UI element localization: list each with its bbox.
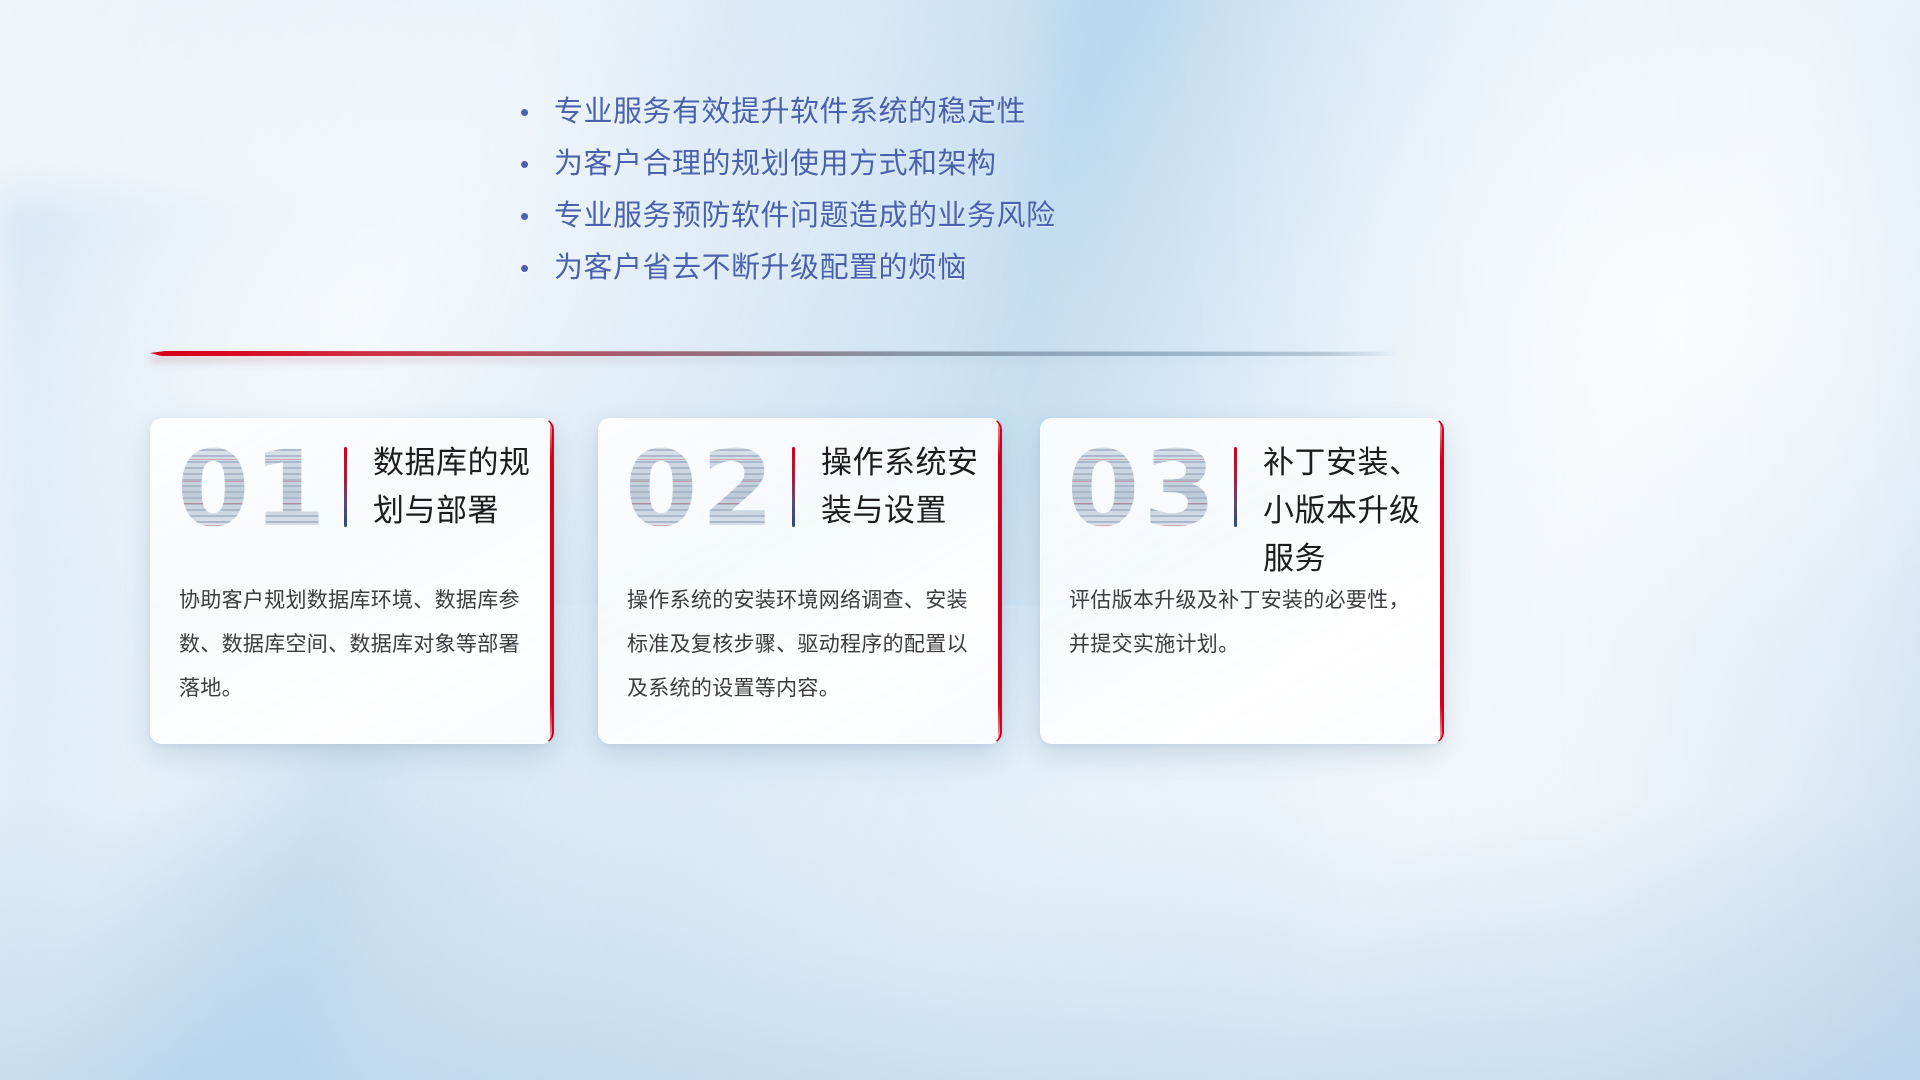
bullet-text: 专业服务有效提升软件系统的稳定性 — [554, 88, 1026, 130]
divider-shadow — [150, 356, 1400, 362]
section-divider — [150, 348, 1400, 362]
card-title: 数据库的规划与部署 — [373, 439, 534, 535]
service-card-03[interactable]: 03 03 补丁安装、小版本升级服务 评估版本升级及补丁安装的必要性，并提交实施… — [1040, 418, 1444, 744]
card-accent-bar — [792, 447, 795, 527]
card-number-watermark: 01 — [177, 437, 330, 541]
service-card-02[interactable]: 02 02 操作系统安装与设置 操作系统的安装环境网络调查、安装标准及复核步骤、… — [598, 418, 1002, 744]
service-card-group: 01 01 数据库的规划与部署 协助客户规划数据库环境、数据库参数、数据库空间、… — [0, 418, 1920, 748]
bullet-marker-icon: • — [520, 99, 554, 125]
bullet-marker-icon: • — [520, 255, 554, 281]
service-card-01[interactable]: 01 01 数据库的规划与部署 协助客户规划数据库环境、数据库参数、数据库空间、… — [150, 418, 554, 744]
card-number-watermark: 03 — [1067, 437, 1220, 541]
card-number-watermark: 02 — [625, 437, 778, 541]
bullet-text: 为客户合理的规划使用方式和架构 — [554, 140, 997, 182]
card-description: 操作系统的安装环境网络调查、安装标准及复核步骤、驱动程序的配置以及系统的设置等内… — [627, 579, 970, 711]
bullet-text: 专业服务预防软件问题造成的业务风险 — [554, 192, 1056, 234]
bullet-marker-icon: • — [520, 203, 554, 229]
list-item: • 专业服务有效提升软件系统的稳定性 — [520, 88, 1280, 140]
bullet-text: 为客户省去不断升级配置的烦恼 — [554, 244, 967, 286]
card-header: 02 02 操作系统安装与设置 — [599, 419, 1000, 569]
list-item: • 为客户省去不断升级配置的烦恼 — [520, 244, 1280, 296]
card-accent-bar — [1234, 447, 1237, 527]
card-accent-bar — [344, 447, 347, 527]
card-header: 01 01 数据库的规划与部署 — [151, 419, 552, 569]
list-item: • 专业服务预防软件问题造成的业务风险 — [520, 192, 1280, 244]
card-description: 评估版本升级及补丁安装的必要性，并提交实施计划。 — [1069, 579, 1412, 667]
card-title: 补丁安装、小版本升级服务 — [1263, 439, 1424, 583]
list-item: • 为客户合理的规划使用方式和架构 — [520, 140, 1280, 192]
benefits-bullet-list: • 专业服务有效提升软件系统的稳定性 • 为客户合理的规划使用方式和架构 • 专… — [520, 88, 1280, 296]
card-description: 协助客户规划数据库环境、数据库参数、数据库空间、数据库对象等部署落地。 — [179, 579, 522, 711]
divider-line — [150, 351, 1400, 356]
card-title: 操作系统安装与设置 — [821, 439, 982, 535]
card-header: 03 03 补丁安装、小版本升级服务 — [1041, 419, 1442, 569]
bullet-marker-icon: • — [520, 151, 554, 177]
slide-content: • 专业服务有效提升软件系统的稳定性 • 为客户合理的规划使用方式和架构 • 专… — [0, 0, 1920, 1080]
